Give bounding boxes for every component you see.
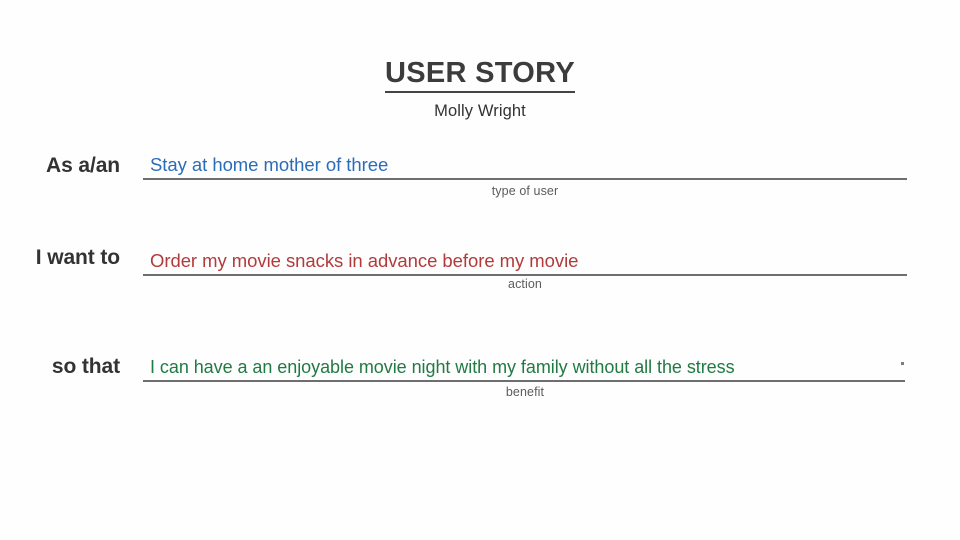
field-action[interactable]: Order my movie snacks in advance before … [143,244,907,276]
stray-dot-mark [901,362,904,365]
user-story-row-benefit: so that I can have a an enjoyable movie … [0,350,960,420]
field-type-of-user[interactable]: Stay at home mother of three [143,148,907,180]
slide-header: USER STORY Molly Wright [0,58,960,121]
author-name: Molly Wright [0,102,960,121]
user-story-row-type-of-user: As a/an Stay at home mother of three typ… [0,148,960,218]
field-caption-benefit: benefit [143,385,907,399]
field-caption-type-of-user: type of user [143,184,907,198]
user-story-row-action: I want to Order my movie snacks in advan… [0,244,960,314]
field-benefit[interactable]: I can have a an enjoyable movie night wi… [143,350,905,382]
row-label-i-want-to: I want to [0,246,120,270]
field-value-benefit: I can have a an enjoyable movie night wi… [150,357,735,378]
field-caption-action: action [143,277,907,291]
user-story-slide: USER STORY Molly Wright As a/an Stay at … [0,0,960,540]
field-value-type-of-user: Stay at home mother of three [150,154,388,176]
field-value-action: Order my movie snacks in advance before … [150,250,578,272]
row-label-so-that: so that [0,355,120,379]
page-title: USER STORY [385,58,575,93]
row-label-as-a-an: As a/an [0,154,120,178]
